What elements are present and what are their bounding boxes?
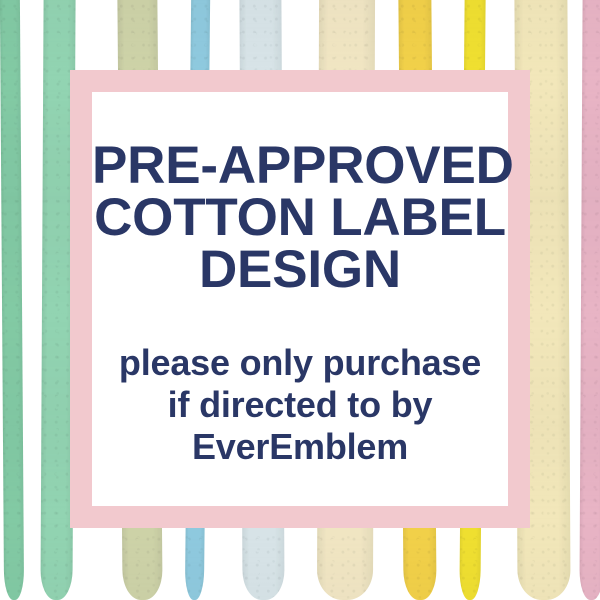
headline-line-3: DESIGN [92,244,508,296]
stripe-green-thin [0,0,24,600]
headline-line-1: PRE-APPROVED [92,140,508,192]
stripe-edge-shade [579,0,600,600]
subtext-brand-name: EverEmblem [92,426,508,468]
subtext-group: please only purchase if directed to by E… [92,342,508,468]
subtext-line-1: please only purchase [92,342,508,384]
card-text-block: PRE-APPROVED COTTON LABEL DESIGN please … [92,140,508,468]
stripe-pink-right [579,0,600,600]
headline-group: PRE-APPROVED COTTON LABEL DESIGN [92,140,508,296]
headline-line-2: COTTON LABEL [92,192,508,244]
subtext-line-2: if directed to by [92,384,508,426]
label-design-card: PRE-APPROVED COTTON LABEL DESIGN please … [0,0,600,600]
stripe-edge-shade [0,0,24,600]
